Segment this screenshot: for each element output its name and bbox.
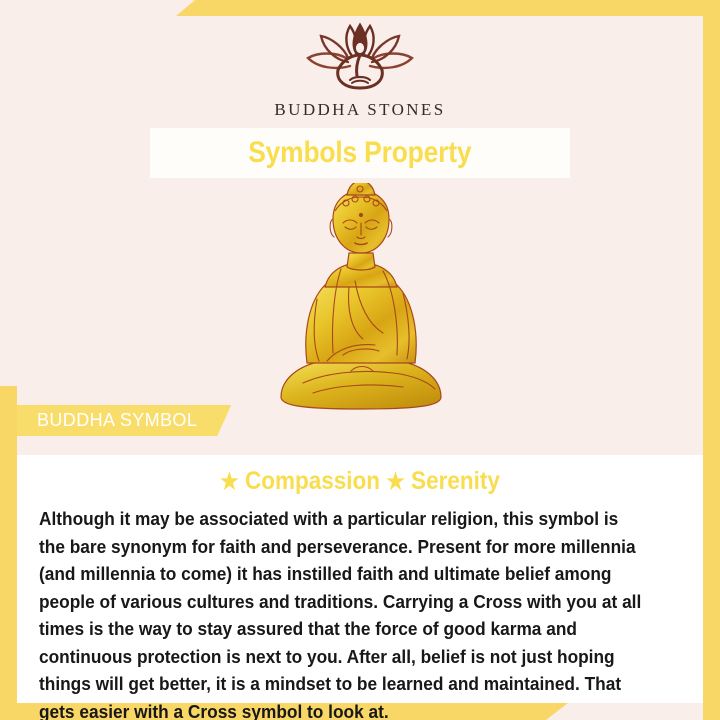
title-band: Symbols Property xyxy=(150,128,570,178)
ribbon-label: BUDDHA SYMBOL xyxy=(37,410,197,431)
body-paragraph: Although it may be associated with a par… xyxy=(39,505,642,720)
page-title: Symbols Property xyxy=(248,136,471,170)
brand-header: BUDDHA STONES xyxy=(0,22,720,120)
decorative-left-bar xyxy=(0,386,17,720)
tagline: ★ Compassion ★ Serenity xyxy=(51,467,668,496)
star-icon-left: ★ xyxy=(220,468,239,494)
lotus-meditation-icon xyxy=(296,22,424,94)
brand-wordmark: BUDDHA STONES xyxy=(0,100,720,120)
golden-buddha-statue-icon xyxy=(263,183,458,415)
star-icon-right: ★ xyxy=(386,468,405,494)
tagline-word-compassion: Compassion xyxy=(245,467,380,495)
tagline-word-serenity: Serenity xyxy=(411,467,500,495)
poster-root: BUDDHA STONES Symbols Property xyxy=(0,0,720,720)
buddha-symbol-ribbon: BUDDHA SYMBOL xyxy=(17,405,231,436)
hero-illustration xyxy=(0,180,720,415)
decorative-top-bar xyxy=(176,0,720,16)
content-card: ★ Compassion ★ Serenity Although it may … xyxy=(17,455,703,703)
